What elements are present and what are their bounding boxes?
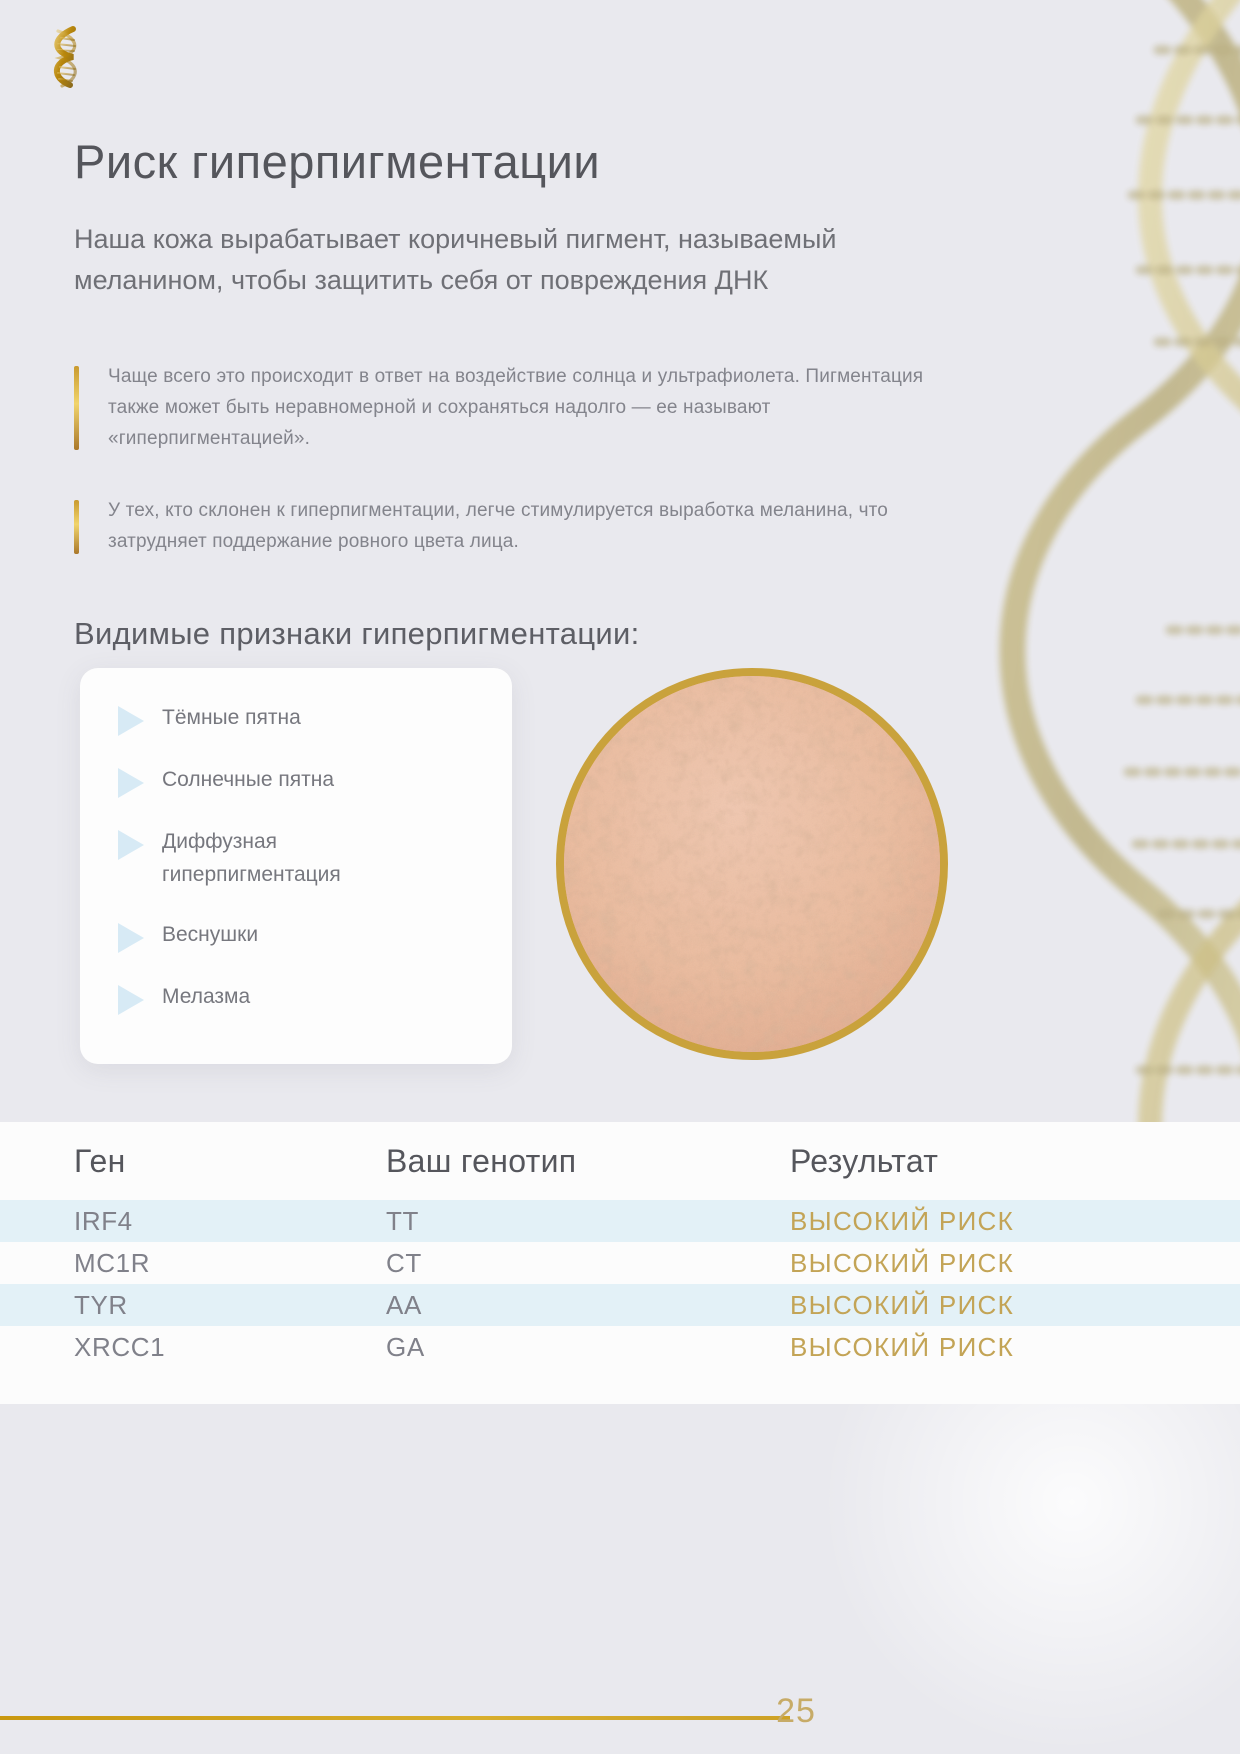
report-page: Риск гиперпигментации Наша кожа вырабаты… — [0, 0, 1240, 1754]
triangle-right-icon — [118, 768, 144, 798]
signs-list: Тёмные пятна Солнечные пятна Диффузная г… — [104, 702, 494, 1015]
quote-list: Чаще всего это происходит в ответ на воз… — [74, 362, 974, 558]
list-item: Мелазма — [104, 981, 494, 1015]
sign-label: Тёмные пятна — [162, 702, 301, 735]
cell-gene: IRF4 — [74, 1206, 386, 1237]
table-row: MC1R CT ВЫСОКИЙ РИСК — [0, 1242, 1240, 1284]
page-number: 25 — [736, 1692, 856, 1731]
cell-result: ВЫСОКИЙ РИСК — [790, 1206, 1240, 1237]
sign-label: Веснушки — [162, 919, 258, 952]
list-item: Веснушки — [104, 919, 494, 953]
cell-gene: XRCC1 — [74, 1332, 386, 1363]
cell-gene: TYR — [74, 1290, 386, 1321]
signs-section-heading: Видимые признаки гиперпигментации: — [74, 616, 874, 652]
cell-result: ВЫСОКИЙ РИСК — [790, 1290, 1240, 1321]
table-bottom-padding — [0, 1368, 1240, 1404]
cell-genotype: AA — [386, 1290, 790, 1321]
gold-accent-bar — [74, 500, 79, 554]
cell-genotype: GA — [386, 1332, 790, 1363]
cell-result: ВЫСОКИЙ РИСК — [790, 1248, 1240, 1279]
triangle-right-icon — [118, 830, 144, 860]
cell-gene: MC1R — [74, 1248, 386, 1279]
table-header-row: Ген Ваш генотип Результат — [0, 1122, 1240, 1200]
cell-genotype: CT — [386, 1248, 790, 1279]
triangle-right-icon — [118, 923, 144, 953]
quote-block: У тех, кто склонен к гиперпигментации, л… — [74, 496, 974, 558]
sign-label: Диффузная гиперпигментация — [162, 826, 392, 891]
quote-text: Чаще всего это происходит в ответ на воз… — [108, 362, 974, 454]
column-header-gene: Ген — [74, 1143, 386, 1180]
list-item: Диффузная гиперпигментация — [104, 826, 494, 891]
gold-accent-bar — [74, 366, 79, 450]
footer-rule — [0, 1716, 790, 1720]
intro-paragraph: Наша кожа вырабатывает коричневый пигмен… — [74, 219, 954, 300]
skin-photo-circle — [556, 668, 948, 1060]
triangle-right-icon — [118, 706, 144, 736]
triangle-right-icon — [118, 985, 144, 1015]
visible-signs-card: Тёмные пятна Солнечные пятна Диффузная г… — [80, 668, 512, 1064]
table-row: XRCC1 GA ВЫСОКИЙ РИСК — [0, 1326, 1240, 1368]
quote-block: Чаще всего это происходит в ответ на воз… — [74, 362, 974, 454]
list-item: Солнечные пятна — [104, 764, 494, 798]
sign-label: Солнечные пятна — [162, 764, 334, 797]
list-item: Тёмные пятна — [104, 702, 494, 736]
cell-genotype: TT — [386, 1206, 790, 1237]
sign-label: Мелазма — [162, 981, 250, 1014]
column-header-genotype: Ваш генотип — [386, 1143, 790, 1180]
quote-text: У тех, кто склонен к гиперпигментации, л… — [108, 496, 974, 558]
page-title: Риск гиперпигментации — [74, 135, 974, 189]
table-row: IRF4 TT ВЫСОКИЙ РИСК — [0, 1200, 1240, 1242]
cell-result: ВЫСОКИЙ РИСК — [790, 1332, 1240, 1363]
table-row: TYR AA ВЫСОКИЙ РИСК — [0, 1284, 1240, 1326]
gene-results-table: Ген Ваш генотип Результат IRF4 TT ВЫСОКИ… — [0, 1122, 1240, 1404]
dna-helix-icon — [40, 22, 92, 92]
column-header-result: Результат — [790, 1143, 1240, 1180]
